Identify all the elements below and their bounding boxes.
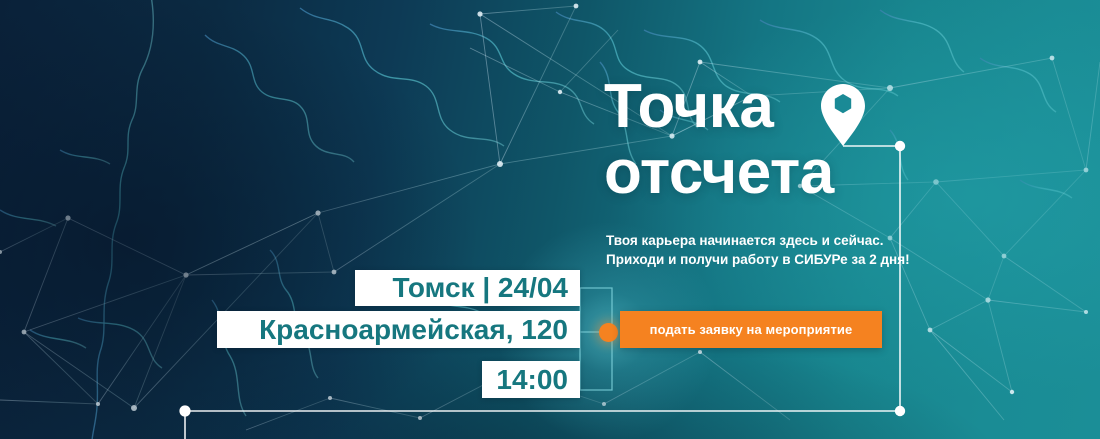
headline-line-2: отсчета — [604, 140, 924, 206]
event-address-box: Красноармейская, 120 — [217, 311, 580, 348]
event-banner: Точка отсчета Твоя карьера начинается зд… — [0, 0, 1100, 439]
headline-line-1: Точка — [604, 74, 924, 140]
event-time-box: 14:00 — [482, 361, 580, 398]
subtitle-line-1: Твоя карьера начинается здесь и сейчас. — [606, 231, 916, 250]
page-title: Точка отсчета — [604, 74, 924, 206]
event-city-date-box: Томск | 24/04 — [355, 270, 580, 306]
subtitle-line-2: Приходи и получи работу в СИБУРе за 2 дн… — [606, 250, 916, 269]
apply-to-event-button[interactable]: подать заявку на мероприятие — [620, 311, 882, 348]
subtitle: Твоя карьера начинается здесь и сейчас. … — [606, 231, 916, 269]
map-pin-icon — [821, 84, 865, 146]
orange-junction-node — [599, 323, 618, 342]
